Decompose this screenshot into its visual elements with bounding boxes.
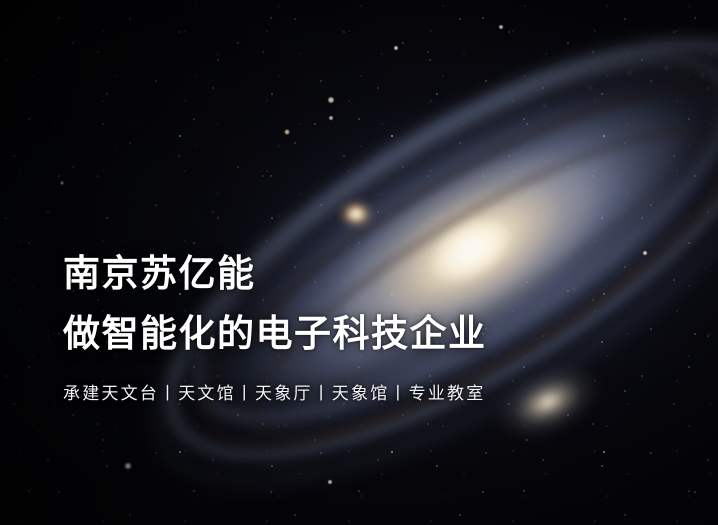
hero-banner: 南京苏亿能 做智能化的电子科技企业 承建天文台丨天文馆丨天象厅丨天象馆丨专业教室 [0, 0, 718, 525]
hero-subtitle: 承建天文台丨天文馆丨天象厅丨天象馆丨专业教室 [63, 382, 683, 406]
hero-headline-line1: 南京苏亿能 [63, 248, 683, 300]
hero-copy-block: 南京苏亿能 做智能化的电子科技企业 承建天文台丨天文馆丨天象厅丨天象馆丨专业教室 [63, 248, 683, 406]
hero-headline-line2: 做智能化的电子科技企业 [63, 308, 683, 360]
